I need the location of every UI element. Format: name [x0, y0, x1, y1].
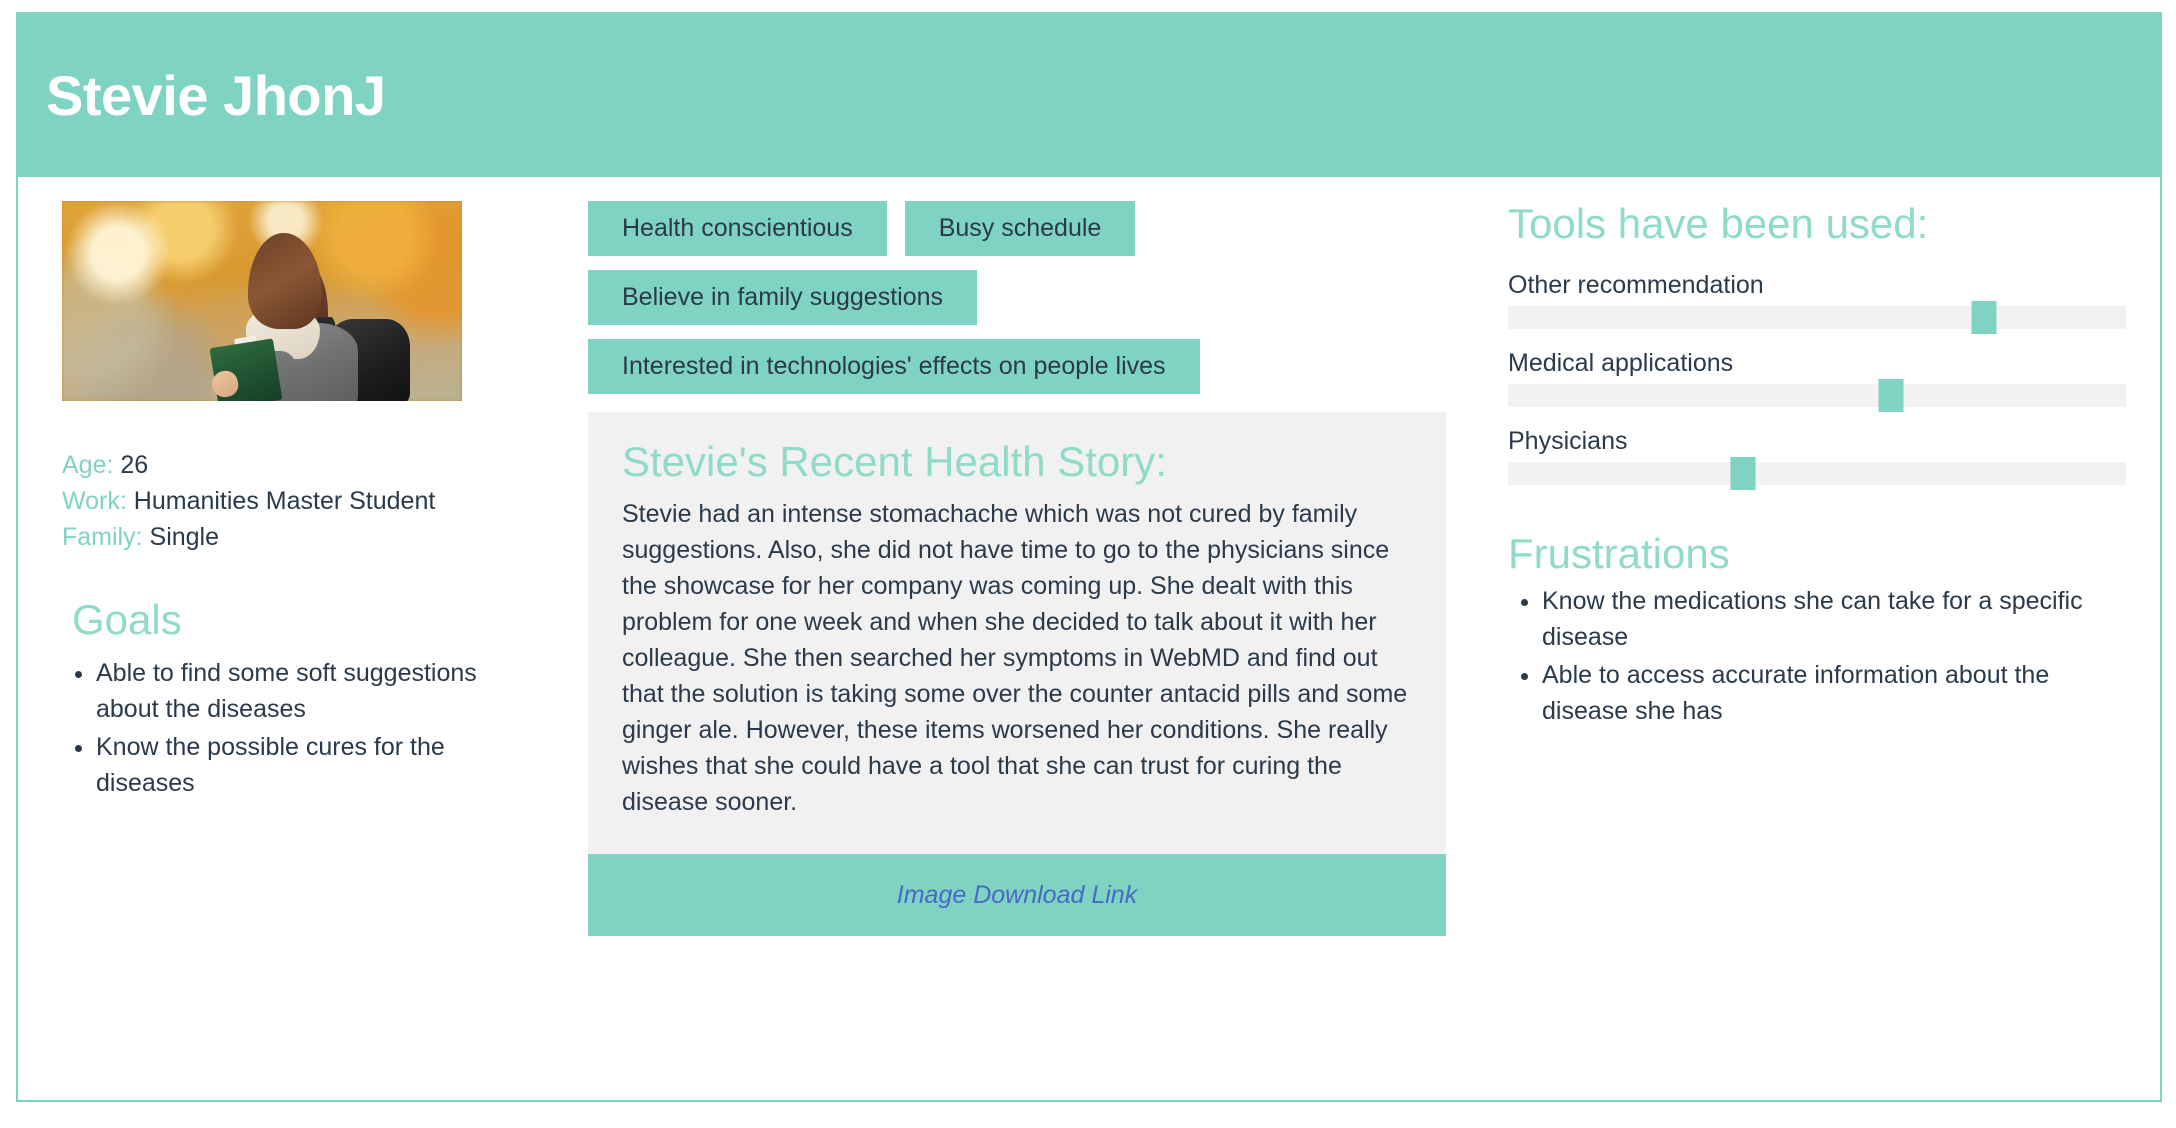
trait-chip[interactable]: Interested in technologies' effects on p…	[588, 339, 1200, 394]
demographic-age-value: 26	[120, 451, 148, 479]
slider-physicians[interactable]: Physicians	[1508, 425, 2126, 485]
trait-chip[interactable]: Busy schedule	[905, 201, 1136, 256]
slider-other-recommendation[interactable]: Other recommendation	[1508, 269, 2126, 329]
demographic-age: Age: 26	[62, 447, 578, 483]
image-download-bar[interactable]: Image Download Link	[588, 854, 1446, 936]
slider-label: Medical applications	[1508, 347, 2126, 379]
health-story-heading: Stevie's Recent Health Story:	[622, 438, 1412, 486]
health-story-text: Stevie had an intense stomachache which …	[622, 496, 1412, 820]
tools-sliders: Other recommendation Medical application…	[1508, 269, 2126, 485]
demographic-work: Work: Humanities Master Student	[62, 483, 578, 519]
list-item: Know the possible cures for the diseases	[96, 729, 496, 801]
right-column: Tools have been used: Other recommendati…	[1448, 201, 2148, 936]
slider-thumb[interactable]	[1730, 457, 1755, 490]
tools-heading: Tools have been used:	[1508, 201, 2148, 247]
slider-thumb[interactable]	[1971, 301, 1996, 334]
image-download-link[interactable]: Image Download Link	[897, 881, 1137, 910]
center-column: Health conscientious Busy schedule Belie…	[578, 201, 1448, 936]
persona-card: Stevie JhonJ Age:	[16, 12, 2162, 1102]
list-item: Know the medications she can take for a …	[1542, 583, 2142, 655]
demographic-age-label: Age:	[62, 451, 113, 479]
slider-thumb[interactable]	[1879, 379, 1904, 412]
goals-heading: Goals	[72, 597, 578, 643]
slider-track[interactable]	[1508, 306, 2126, 329]
slider-label: Physicians	[1508, 425, 2126, 457]
demographic-family: Family: Single	[62, 519, 578, 555]
slider-label: Other recommendation	[1508, 269, 2126, 301]
list-item: Able to find some soft suggestions about…	[96, 655, 496, 727]
traits-row: Health conscientious Busy schedule	[588, 201, 1448, 256]
persona-photo	[62, 201, 462, 401]
trait-chip[interactable]: Health conscientious	[588, 201, 887, 256]
traits-row: Believe in family suggestions	[588, 270, 1448, 325]
demographic-work-value: Humanities Master Student	[134, 487, 436, 515]
frustrations-list: Know the medications she can take for a …	[1508, 583, 2142, 729]
slider-medical-applications[interactable]: Medical applications	[1508, 347, 2126, 407]
card-body: Age: 26 Work: Humanities Master Student …	[18, 177, 2160, 936]
demographics: Age: 26 Work: Humanities Master Student …	[62, 447, 578, 555]
trait-chip[interactable]: Believe in family suggestions	[588, 270, 977, 325]
demographic-work-label: Work:	[62, 487, 127, 515]
traits-row: Interested in technologies' effects on p…	[588, 339, 1448, 394]
card-header: Stevie JhonJ	[18, 14, 2160, 177]
list-item: Able to access accurate information abou…	[1542, 657, 2142, 729]
slider-track[interactable]	[1508, 462, 2126, 485]
left-column: Age: 26 Work: Humanities Master Student …	[18, 201, 578, 936]
demographic-family-label: Family:	[62, 523, 143, 551]
health-story-box: Stevie's Recent Health Story: Stevie had…	[588, 412, 1446, 854]
persona-name: Stevie JhonJ	[46, 68, 385, 124]
frustrations-heading: Frustrations	[1508, 531, 2148, 577]
traits-chips: Health conscientious Busy schedule Belie…	[588, 201, 1448, 394]
goals-list: Able to find some soft suggestions about…	[62, 655, 496, 801]
slider-track[interactable]	[1508, 384, 2126, 407]
demographic-family-value: Single	[150, 523, 220, 551]
